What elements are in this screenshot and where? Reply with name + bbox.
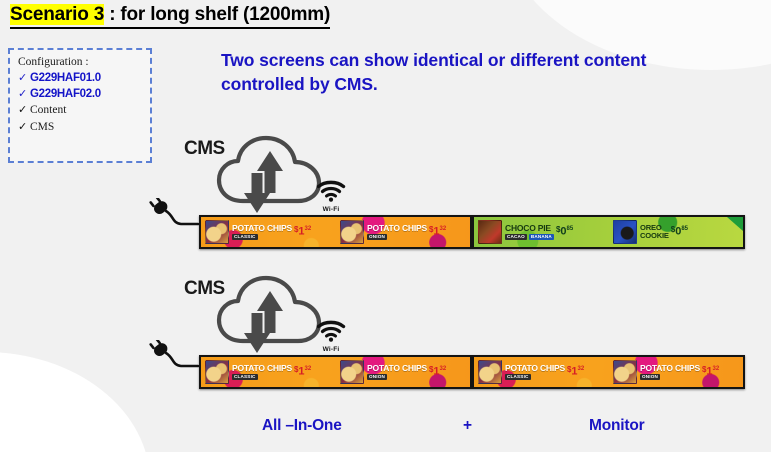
product-price: $132: [294, 226, 311, 238]
top-shelf[interactable]: POTATO CHIPSCLASSIC$132POTATO CHIPSONION…: [199, 215, 745, 249]
product-name: CHOCO PIE: [505, 224, 554, 233]
product-tags: ONION: [640, 374, 700, 380]
check-icon: ✓: [18, 72, 30, 85]
product-tag: BANANA: [529, 234, 554, 240]
product-tag: CLASSIC: [505, 374, 531, 380]
wifi-icon-bottom: [316, 320, 346, 342]
product-tag: ONION: [367, 374, 387, 380]
product-tile[interactable]: OREOCOOKIE$085: [613, 217, 744, 247]
config-item-label: G229HAF01.0: [30, 72, 101, 85]
product-tags: CLASSIC: [232, 374, 292, 380]
caption-all-in-one: All –In-One: [262, 417, 342, 435]
all-in-one-screen[interactable]: POTATO CHIPSCLASSIC$132POTATO CHIPSONION…: [199, 215, 472, 249]
monitor-screen[interactable]: POTATO CHIPSCLASSIC$132POTATO CHIPSONION…: [472, 355, 745, 389]
config-item-label: CMS: [30, 121, 54, 134]
product-price: $132: [702, 366, 719, 378]
product-image: [478, 220, 502, 244]
config-item: ✓G229HAF01.0: [18, 72, 142, 85]
product-tile[interactable]: POTATO CHIPSONION$132: [340, 357, 471, 387]
bottom-shelf[interactable]: POTATO CHIPSCLASSIC$132POTATO CHIPSONION…: [199, 355, 745, 389]
product-name: OREOCOOKIE: [640, 224, 669, 240]
config-item-label: G229HAF02.0: [30, 88, 101, 101]
product-tag: ONION: [640, 374, 660, 380]
product-image: [340, 360, 364, 384]
product-tile[interactable]: POTATO CHIPSONION$132: [613, 357, 744, 387]
product-price: $085: [556, 226, 573, 238]
product-image: [613, 360, 637, 384]
product-tags: ONION: [367, 234, 427, 240]
wifi-indicator-top: Wi-Fi: [314, 180, 348, 213]
product-tile[interactable]: POTATO CHIPSONION$132: [340, 217, 471, 247]
product-image: [205, 360, 229, 384]
all-in-one-screen[interactable]: POTATO CHIPSCLASSIC$132POTATO CHIPSONION…: [199, 355, 472, 389]
configuration-box: Configuration : ✓G229HAF01.0✓G229HAF02.0…: [8, 48, 152, 163]
slide-title: Scenario 3 : for long shelf (1200mm): [10, 4, 330, 29]
slide-canvas: Scenario 3 : for long shelf (1200mm) Con…: [0, 0, 771, 452]
product-image: [205, 220, 229, 244]
product-tag: CACAO: [505, 234, 527, 240]
product-tags: ONION: [367, 374, 427, 380]
check-icon: ✓: [18, 121, 30, 134]
caption-monitor: Monitor: [589, 417, 644, 435]
config-item: ✓G229HAF02.0: [18, 88, 142, 101]
product-price: $132: [429, 366, 446, 378]
product-tags: CACAOBANANA: [505, 234, 554, 240]
product-image: [613, 220, 637, 244]
product-image: [478, 360, 502, 384]
config-item: ✓Content: [18, 104, 142, 117]
check-icon: ✓: [18, 88, 30, 101]
monitor-screen[interactable]: CHOCO PIECACAOBANANA$085OREOCOOKIE$085: [472, 215, 745, 249]
headline-text: Two screens can show identical or differ…: [221, 48, 771, 96]
product-name: POTATO CHIPS: [367, 224, 427, 233]
product-tag: CLASSIC: [232, 234, 258, 240]
product-tags: CLASSIC: [505, 374, 565, 380]
product-tile[interactable]: POTATO CHIPSCLASSIC$132: [205, 357, 336, 387]
headline-line-1: Two screens can show identical or differ…: [221, 48, 771, 72]
product-name: POTATO CHIPS: [232, 364, 292, 373]
title-highlight: Scenario 3: [10, 4, 104, 25]
product-tag: CLASSIC: [232, 374, 258, 380]
product-tile[interactable]: POTATO CHIPSCLASSIC$132: [205, 217, 336, 247]
product-name: POTATO CHIPS: [232, 224, 292, 233]
configuration-heading: Configuration :: [18, 56, 142, 68]
wifi-caption-bottom: Wi-Fi: [314, 346, 348, 353]
headline-line-2: controlled by CMS.: [221, 72, 771, 96]
product-name: POTATO CHIPS: [367, 364, 427, 373]
config-item: ✓CMS: [18, 121, 142, 134]
product-price: $132: [429, 226, 446, 238]
decorative-arc-bottom-left: [0, 352, 150, 452]
product-image: [340, 220, 364, 244]
title-rest: : for long shelf (1200mm): [104, 4, 330, 25]
product-price: $132: [294, 366, 311, 378]
product-name: POTATO CHIPS: [640, 364, 700, 373]
cloud-sync-icon-bottom: [213, 273, 325, 362]
product-name: POTATO CHIPS: [505, 364, 565, 373]
configuration-list: ✓G229HAF01.0✓G229HAF02.0✓Content✓CMS: [18, 72, 142, 134]
product-tag: ONION: [367, 234, 387, 240]
product-tags: CLASSIC: [232, 234, 292, 240]
check-icon: ✓: [18, 104, 30, 117]
product-price: $132: [567, 366, 584, 378]
wifi-indicator-bottom: Wi-Fi: [314, 320, 348, 353]
config-item-label: Content: [30, 104, 66, 117]
product-tile[interactable]: POTATO CHIPSCLASSIC$132: [478, 357, 609, 387]
wifi-caption-top: Wi-Fi: [314, 206, 348, 213]
product-tile[interactable]: CHOCO PIECACAOBANANA$085: [478, 217, 609, 247]
product-price: $085: [671, 226, 688, 238]
wifi-icon-top: [316, 180, 346, 202]
cloud-sync-icon-top: [213, 133, 325, 222]
caption-plus: +: [463, 417, 472, 435]
